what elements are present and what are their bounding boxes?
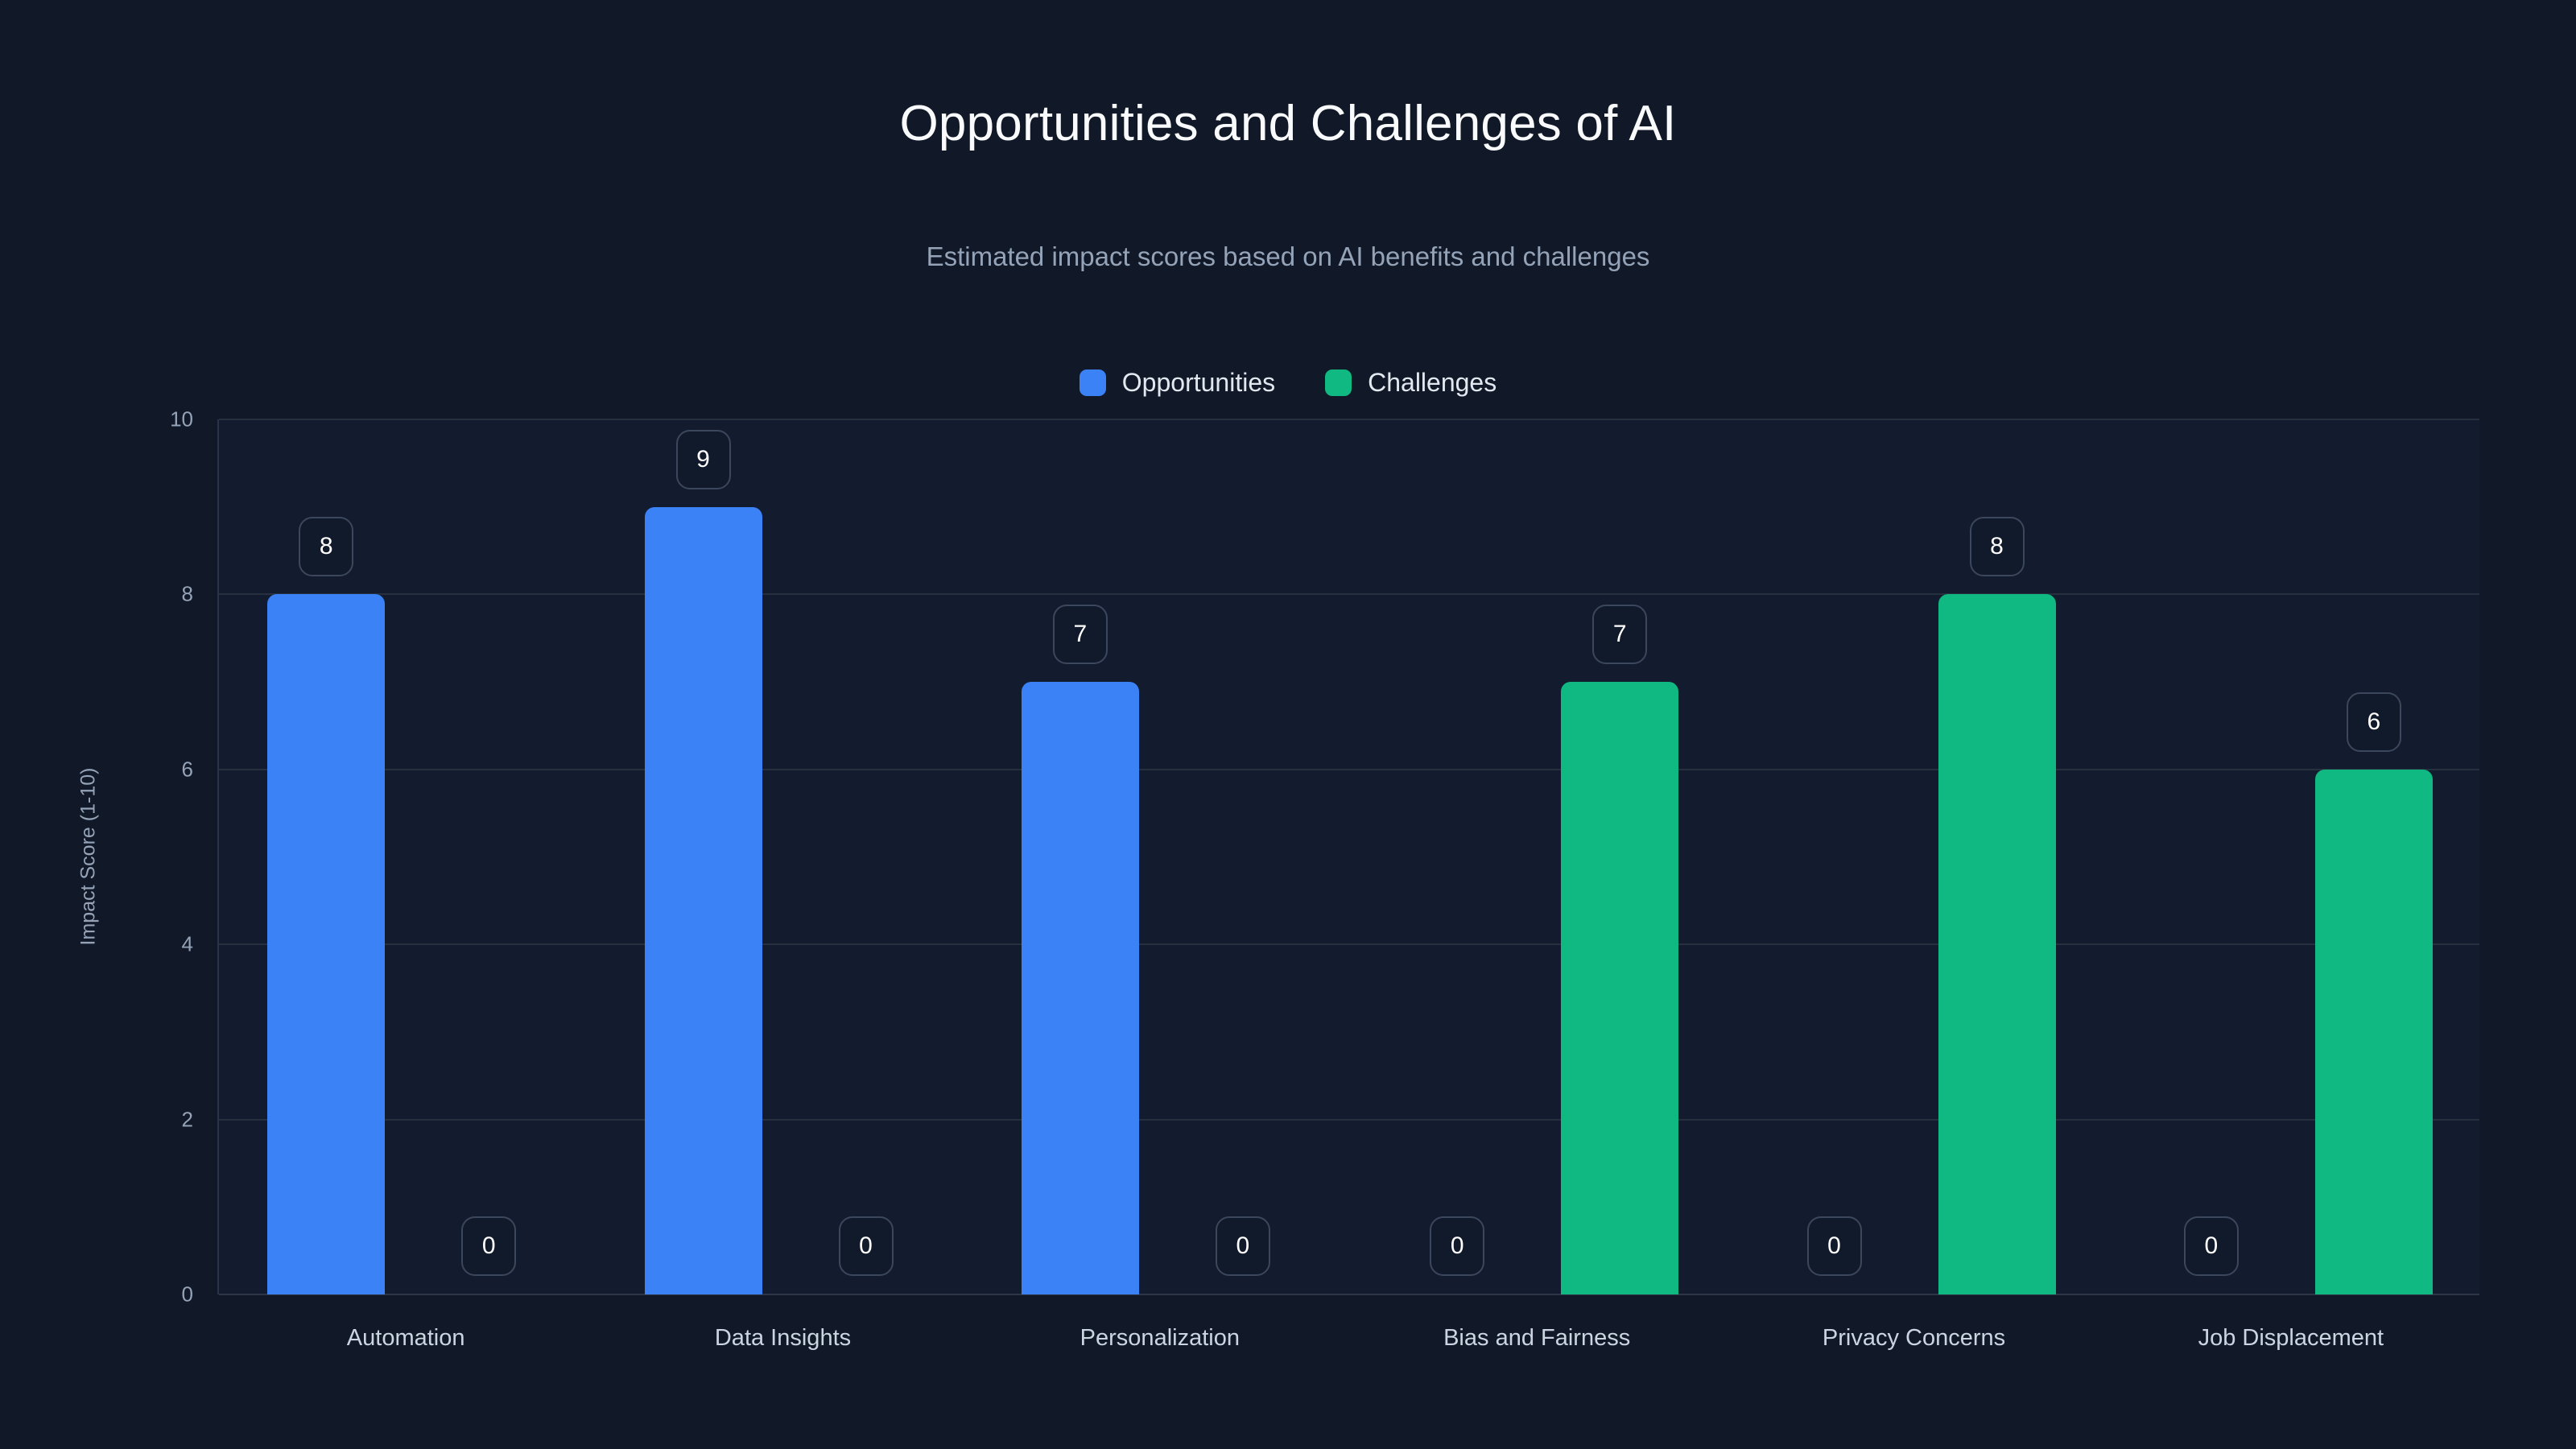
bar[interactable] — [2315, 770, 2433, 1294]
bar-value-label: 8 — [299, 517, 353, 576]
y-axis-tick-label: 4 — [97, 932, 193, 957]
x-axis-category-label: Bias and Fairness — [1443, 1325, 1630, 1352]
bar-value-label: 9 — [676, 430, 731, 489]
gridline — [219, 769, 2479, 770]
bar[interactable] — [645, 507, 762, 1294]
bar[interactable] — [1938, 594, 2056, 1294]
gridline — [219, 1294, 2479, 1295]
bar-value-label: 6 — [2347, 692, 2401, 752]
x-axis-category-label: Data Insights — [715, 1325, 851, 1352]
bar-value-label: 0 — [2184, 1216, 2239, 1276]
y-axis-tick-label: 0 — [97, 1282, 193, 1307]
plot-area: 809070070806 — [217, 419, 2479, 1294]
x-axis-category-label: Job Displacement — [2198, 1325, 2384, 1352]
bar-value-label: 7 — [1053, 605, 1108, 664]
bar-value-label: 0 — [461, 1216, 516, 1276]
bar-value-label: 7 — [1592, 605, 1647, 664]
bar[interactable] — [267, 594, 385, 1294]
bar-value-label: 8 — [1970, 517, 2025, 576]
y-axis-tick-label: 6 — [97, 757, 193, 782]
y-axis-title: Impact Score (1-10) — [77, 768, 101, 946]
bar-value-label: 0 — [839, 1216, 894, 1276]
bar[interactable] — [1022, 682, 1139, 1294]
x-axis-category-label: Automation — [347, 1325, 465, 1352]
y-axis-tick-label: 8 — [97, 582, 193, 607]
bar-value-label: 0 — [1430, 1216, 1484, 1276]
y-axis-tick-label: 2 — [97, 1107, 193, 1132]
gridline — [219, 943, 2479, 945]
x-axis-category-label: Personalization — [1080, 1325, 1240, 1352]
gridline — [219, 1119, 2479, 1121]
bar-value-label: 0 — [1807, 1216, 1862, 1276]
y-axis-tick-label: 10 — [97, 407, 193, 432]
bar[interactable] — [1561, 682, 1678, 1294]
chart-card: Opportunities and Challenges of AI Estim… — [0, 0, 2576, 1449]
x-axis-category-label: Privacy Concerns — [1823, 1325, 2005, 1352]
bar-value-label: 0 — [1216, 1216, 1270, 1276]
gridline — [219, 419, 2479, 420]
gridline — [219, 593, 2479, 595]
